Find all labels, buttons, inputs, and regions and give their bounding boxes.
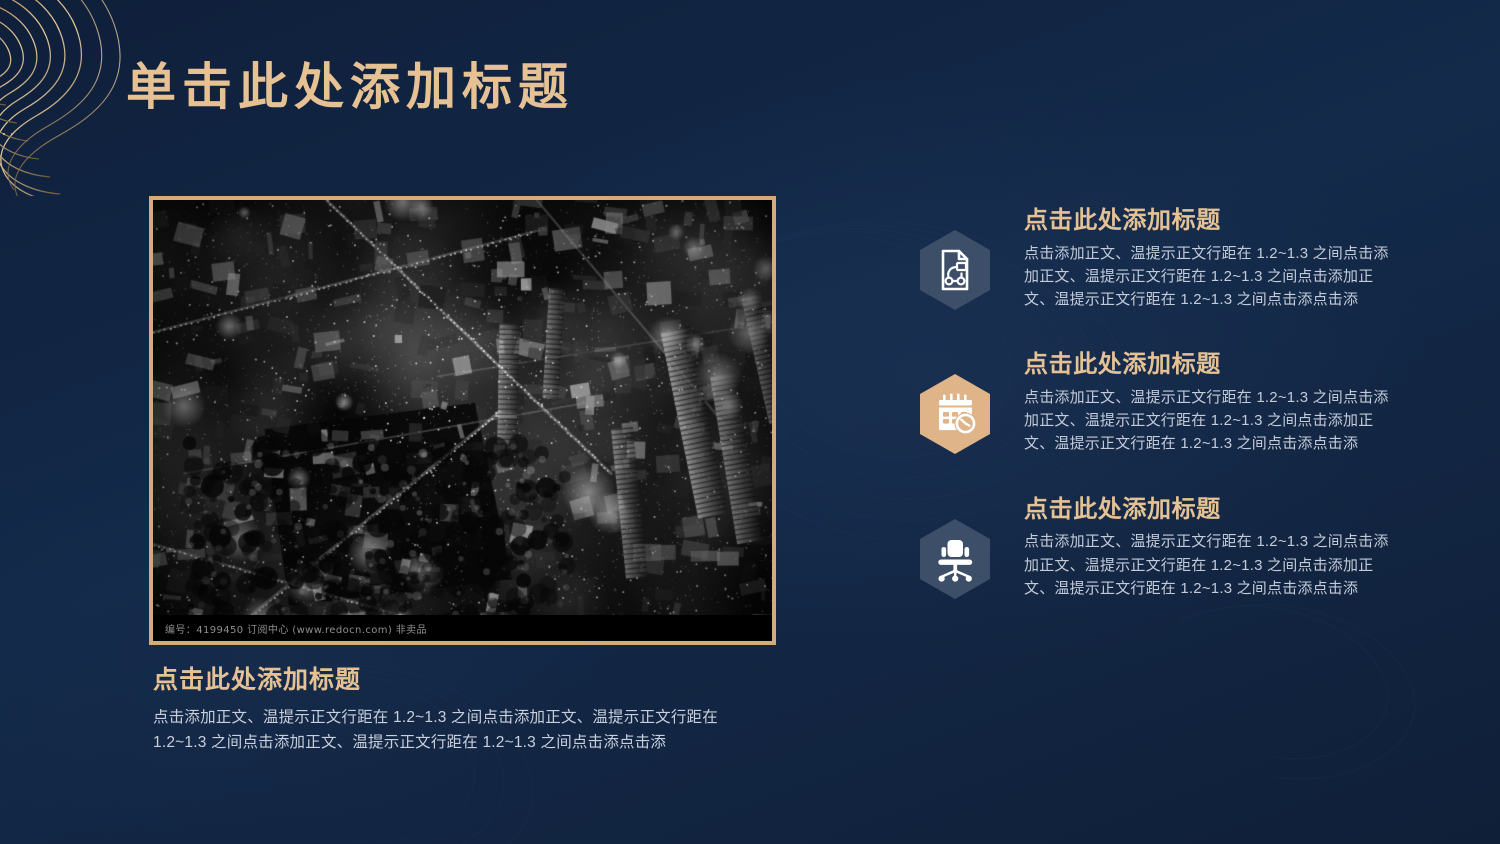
office-chair-icon[interactable] (918, 518, 992, 600)
document-flowchart-icon[interactable] (918, 229, 992, 311)
feature-title: 点击此处添加标题 (1024, 351, 1418, 379)
caption-title: 点击此处添加标题 (153, 660, 768, 696)
slide-canvas: 单击此处添加标题 编号：4199450 订阅中心 (www.redocn.com… (0, 0, 1500, 844)
slide-title: 单击此处添加标题 (126, 60, 574, 115)
feature-body: 点击添加正文、温提示正文行距在 1.2~1.3 之间点击添加正文、温提示正文行距… (1024, 386, 1396, 456)
night-cityscape-photo (153, 200, 772, 641)
photo-watermark-text: 编号：4199450 订阅中心 (www.redocn.com) 非卖品 (153, 621, 427, 636)
feature-text: 点击此处添加标题 点击添加正文、温提示正文行距在 1.2~1.3 之间点击添加正… (1024, 496, 1418, 600)
feature-text: 点击此处添加标题 点击添加正文、温提示正文行距在 1.2~1.3 之间点击添加正… (1024, 351, 1418, 455)
feature-item[interactable]: 点击此处添加标题 点击添加正文、温提示正文行距在 1.2~1.3 之间点击添加正… (918, 207, 1418, 311)
feature-title: 点击此处添加标题 (1024, 496, 1418, 524)
photo-watermark-bar: 编号：4199450 订阅中心 (www.redocn.com) 非卖品 (153, 615, 772, 641)
feature-body: 点击添加正文、温提示正文行距在 1.2~1.3 之间点击添加正文、温提示正文行距… (1024, 242, 1396, 312)
feature-body: 点击添加正文、温提示正文行距在 1.2~1.3 之间点击添加正文、温提示正文行距… (1024, 530, 1396, 600)
caption-body: 点击添加正文、温提示正文行距在 1.2~1.3 之间点击添加正文、温提示正文行距… (153, 705, 768, 755)
feature-item[interactable]: 点击此处添加标题 点击添加正文、温提示正文行距在 1.2~1.3 之间点击添加正… (918, 496, 1418, 600)
feature-item[interactable]: 点击此处添加标题 点击添加正文、温提示正文行距在 1.2~1.3 之间点击添加正… (918, 351, 1418, 455)
feature-text: 点击此处添加标题 点击添加正文、温提示正文行距在 1.2~1.3 之间点击添加正… (1024, 207, 1418, 311)
photo-frame[interactable]: 编号：4199450 订阅中心 (www.redocn.com) 非卖品 (149, 196, 776, 645)
photo-caption: 点击此处添加标题 点击添加正文、温提示正文行距在 1.2~1.3 之间点击添加正… (153, 660, 768, 755)
feature-list: 点击此处添加标题 点击添加正文、温提示正文行距在 1.2~1.3 之间点击添加正… (918, 207, 1418, 600)
calendar-clock-icon[interactable] (918, 373, 992, 455)
feature-title: 点击此处添加标题 (1024, 207, 1418, 235)
